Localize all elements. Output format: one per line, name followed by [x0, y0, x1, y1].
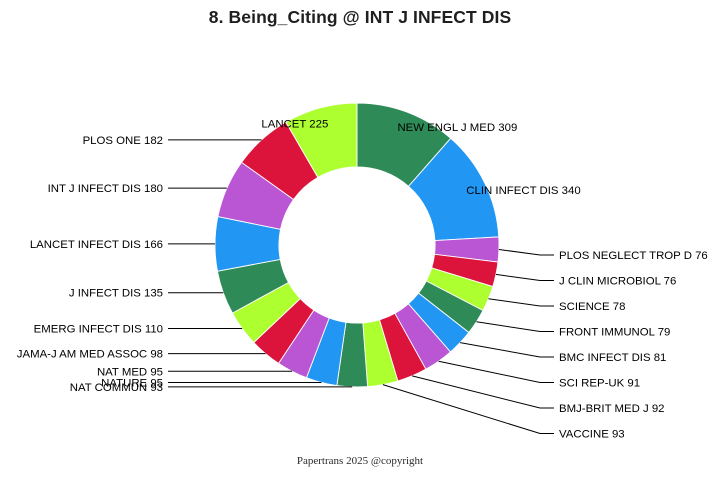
slice-label: J INFECT DIS 135	[69, 288, 163, 300]
slice-label: LANCET 225	[261, 118, 328, 130]
leader-line	[383, 385, 554, 434]
slice-label: SCI REP-UK 91	[559, 378, 640, 390]
slice-label: CLIN INFECT DIS 340	[466, 185, 580, 197]
slice-label: EMERG INFECT DIS 110	[34, 323, 163, 335]
leader-line	[488, 299, 554, 306]
leader-line	[499, 249, 554, 255]
pie-slices-group[interactable]	[215, 103, 499, 387]
slice-label: INT J INFECT DIS 180	[48, 183, 163, 195]
slice-label: PLOS NEGLECT TROP D 76	[559, 250, 708, 262]
slice-label: NAT COMMUN 93	[70, 382, 163, 394]
leader-line	[460, 343, 554, 357]
copyright-footer: Papertrans 2025 @copyright	[0, 455, 720, 467]
leader-line	[476, 322, 554, 332]
slice-label: JAMA-J AM MED ASSOC 98	[17, 349, 163, 361]
slice-label: LANCET INFECT DIS 166	[30, 239, 163, 251]
leader-line	[439, 361, 554, 382]
slice-label: FRONT IMMUNOL 79	[559, 327, 670, 339]
slice-label: VACCINE 93	[559, 429, 625, 441]
slice-label: PLOS ONE 182	[83, 135, 163, 147]
slice-label: BMC INFECT DIS 81	[559, 352, 666, 364]
slice-label: BMJ-BRIT MED J 92	[559, 403, 665, 415]
slice-label: SCIENCE 78	[559, 301, 625, 313]
slice-label: NEW ENGL J MED 309	[397, 122, 517, 134]
leader-line	[496, 274, 554, 280]
donut-chart-figure: 8. Being_Citing @ INT J INFECT DIS PLOS …	[0, 0, 720, 480]
donut-chart-svg[interactable]: PLOS NEGLECT TROP D 76J CLIN MICROBIOL 7…	[0, 0, 720, 480]
slice-label: J CLIN MICROBIOL 76	[559, 276, 676, 288]
